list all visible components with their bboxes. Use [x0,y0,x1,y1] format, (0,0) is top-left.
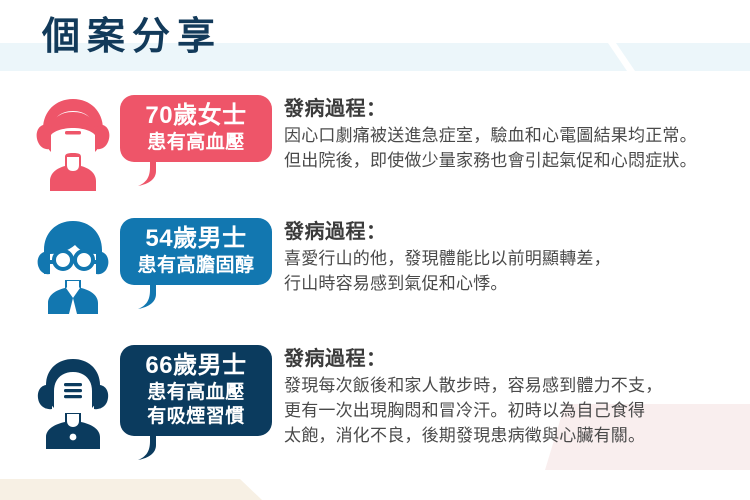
case-bubble: 70歲女士 患有高血壓 [120,95,272,162]
bubble-age-label: 66歲男士 [134,351,258,381]
case-description-heading: 發病過程： [284,95,750,123]
bubble-condition-label: 患有高血壓 [134,381,258,405]
case-description-line: 行山時容易感到氣促和心悸。 [284,271,750,296]
case-description-line: 太飽，消化不良，後期發現患病徵與心臟有關。 [284,423,750,448]
case-description-line: 發現每次飯後和家人散步時，容易感到體力不支， [284,373,750,398]
woman-with-mask-avatar-icon [30,95,116,191]
case-description-body: 因心口劇痛被送進急症室，驗血和心電圖結果均正常。 但出院後，即使做少量家務也會引… [284,123,750,173]
bubble-condition-label: 有吸煙習慣 [134,405,258,429]
case-description-heading: 發病過程： [284,218,750,246]
case-description-body: 喜愛行山的他，發現體能比以前明顯轉差， 行山時容易感到氣促和心悸。 [284,246,750,296]
bubble-tail-icon [136,157,170,187]
bubble-tail-icon [136,280,170,310]
case-description-line: 更有一次出現胸悶和冒冷汗。初時以為自己食得 [284,398,750,423]
bubble-condition-label: 患有高膽固醇 [134,254,258,278]
elderly-man-avatar-icon [30,353,116,449]
case-description: 發病過程： 因心口劇痛被送進急症室，驗血和心電圖結果均正常。 但出院後，即使做少… [284,95,750,173]
case-description-line: 但出院後，即使做少量家務也會引起氣促和心悶症狀。 [284,148,750,173]
case-row: 54歲男士 患有高膽固醇 發病過程： 喜愛行山的他，發現體能比以前明顯轉差， 行… [0,218,750,323]
bubble-age-label: 54歲男士 [134,224,258,254]
case-row: 66歲男士 患有高血壓 有吸煙習慣 發病過程： 發現每次飯後和家人散步時，容易感… [0,345,750,460]
case-description-line: 喜愛行山的他，發現體能比以前明顯轉差， [284,246,750,271]
bubble-tail-icon [136,431,170,461]
case-description-line: 因心口劇痛被送進急症室，驗血和心電圖結果均正常。 [284,123,750,148]
case-description-body: 發現每次飯後和家人散步時，容易感到體力不支， 更有一次出現胸悶和冒冷汗。初時以為… [284,373,750,448]
case-row: 70歲女士 患有高血壓 發病過程： 因心口劇痛被送進急症室，驗血和心電圖結果均正… [0,95,750,195]
bottom-left-decorative-shape [0,479,262,500]
page-title: 個案分享 [42,13,222,61]
man-with-glasses-avatar-icon [30,218,116,314]
case-bubble: 54歲男士 患有高膽固醇 [120,218,272,285]
case-description: 發病過程： 喜愛行山的他，發現體能比以前明顯轉差， 行山時容易感到氣促和心悸。 [284,218,750,296]
case-description-heading: 發病過程： [284,345,750,373]
bubble-condition-label: 患有高血壓 [134,131,258,155]
bubble-age-label: 70歲女士 [134,101,258,131]
case-sharing-infographic: 個案分享 70歲女士 患有高血壓 [0,0,750,500]
case-description: 發病過程： 發現每次飯後和家人散步時，容易感到體力不支， 更有一次出現胸悶和冒冷… [284,345,750,448]
case-bubble: 66歲男士 患有高血壓 有吸煙習慣 [120,345,272,436]
